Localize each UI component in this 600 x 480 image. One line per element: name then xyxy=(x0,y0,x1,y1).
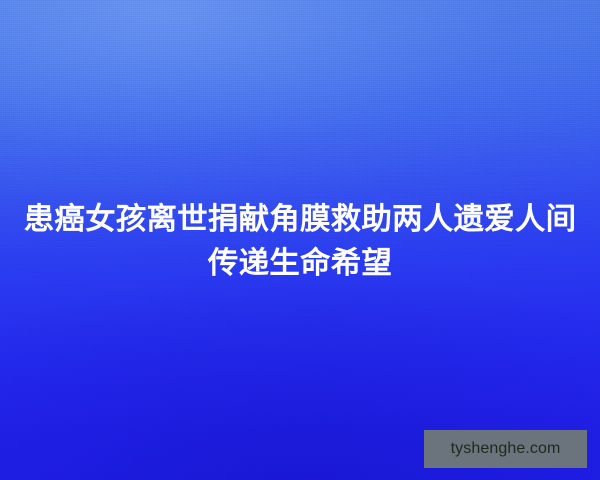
image-banner: 患癌女孩离世捐献角膜救助两人遗爱人间 传递生命希望 tyshenghe.com xyxy=(0,0,600,480)
headline-text: 患癌女孩离世捐献角膜救助两人遗爱人间 传递生命希望 xyxy=(0,198,600,286)
headline-line-1: 患癌女孩离世捐献角膜救助两人遗爱人间 xyxy=(0,198,600,242)
watermark-badge: tyshenghe.com xyxy=(424,430,587,468)
watermark-label: tyshenghe.com xyxy=(451,441,561,457)
headline-line-2: 传递生命希望 xyxy=(0,242,600,286)
